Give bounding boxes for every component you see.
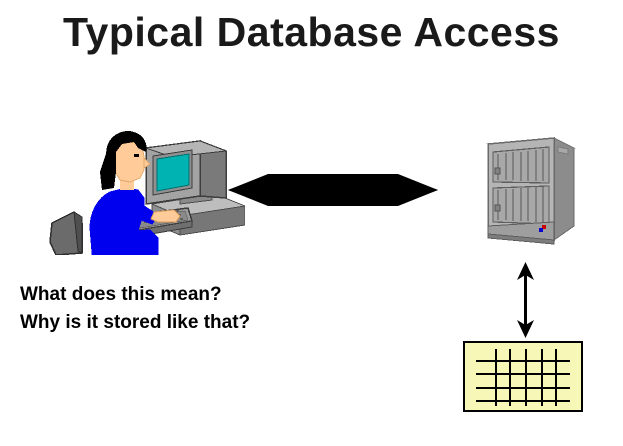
server-table-link-arrow xyxy=(508,262,544,338)
workstation-graphic xyxy=(40,120,245,255)
user-server-link-arrow xyxy=(228,172,438,208)
slide-canvas: Typical Database Access xyxy=(0,0,623,446)
table-grid xyxy=(465,343,581,410)
double-headed-horizontal-arrow-icon xyxy=(228,172,438,208)
server-cabinet-graphic xyxy=(470,130,590,250)
question-line-1: What does this mean? xyxy=(20,281,250,309)
person-hand xyxy=(151,210,180,222)
table-column-lines xyxy=(496,349,556,406)
monitor-screen xyxy=(157,154,189,191)
database-server-illustration xyxy=(470,130,590,250)
workstation-illustration xyxy=(40,120,245,255)
double-headed-vertical-arrow-icon xyxy=(508,262,544,338)
office-chair xyxy=(50,212,82,255)
question-line-2: Why is it stored like that? xyxy=(20,309,250,337)
database-table-graphic xyxy=(463,341,583,412)
page-title: Typical Database Access xyxy=(0,8,623,56)
question-text-block: What does this mean? Why is it stored li… xyxy=(20,281,250,337)
computer-monitor xyxy=(146,141,226,204)
